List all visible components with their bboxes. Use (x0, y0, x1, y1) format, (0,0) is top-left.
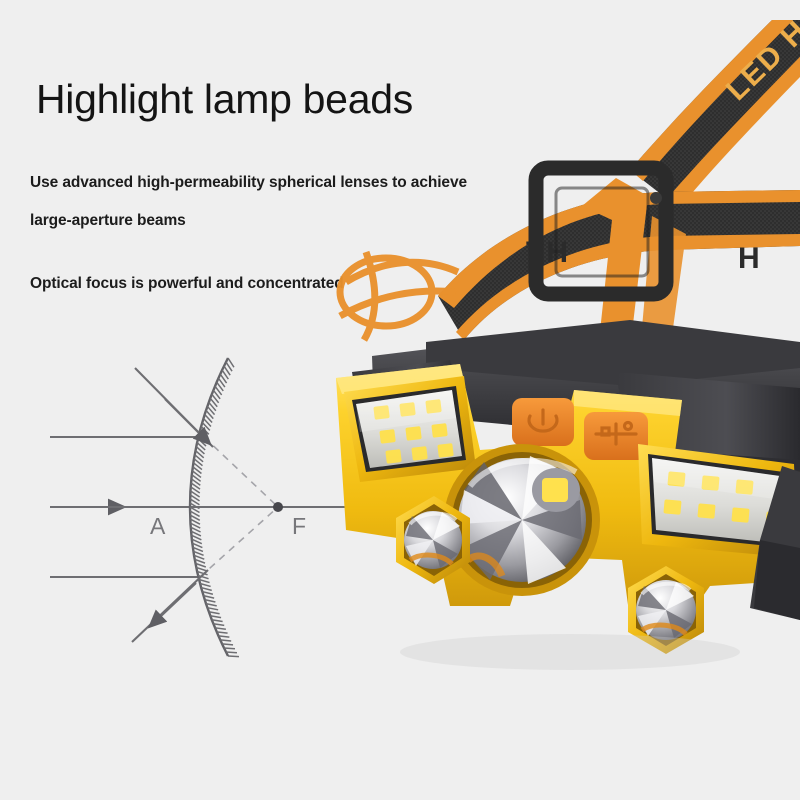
cob-panel-left (344, 376, 476, 482)
strap-lower-text-right: H (738, 242, 760, 275)
mirror-hatch-tick (228, 656, 239, 657)
dashed-line-top (204, 437, 278, 507)
focal-point-dot (273, 502, 283, 512)
headlamp-strap-lower: TH H (340, 190, 800, 340)
reflected-ray-top-arrow (165, 399, 200, 434)
product-shadow (400, 634, 740, 670)
center-led-chip (542, 478, 568, 502)
mirror-hatch-tick (226, 652, 237, 653)
headlamp-strap-upper: LED HE (630, 20, 800, 212)
led-headlamp-product-image: LED HE TH H (330, 20, 800, 700)
mirror-hatch-tick (222, 644, 233, 645)
description-line-3: Optical focus is powerful and concentrat… (30, 275, 344, 293)
dashed-line-bottom (200, 507, 278, 577)
description-line-2: large-aperture beams (30, 212, 186, 230)
reflected-ray-bottom-arrow (160, 583, 196, 617)
label-vertex-A: A (150, 513, 166, 539)
power-button[interactable] (512, 398, 574, 446)
label-focus-F: F (292, 513, 306, 539)
product-feature-slide: Highlight lamp beads Use advanced high-p… (0, 0, 800, 800)
reflected-ray-bottom (132, 570, 208, 642)
mirror-hatch-tick (224, 648, 235, 649)
